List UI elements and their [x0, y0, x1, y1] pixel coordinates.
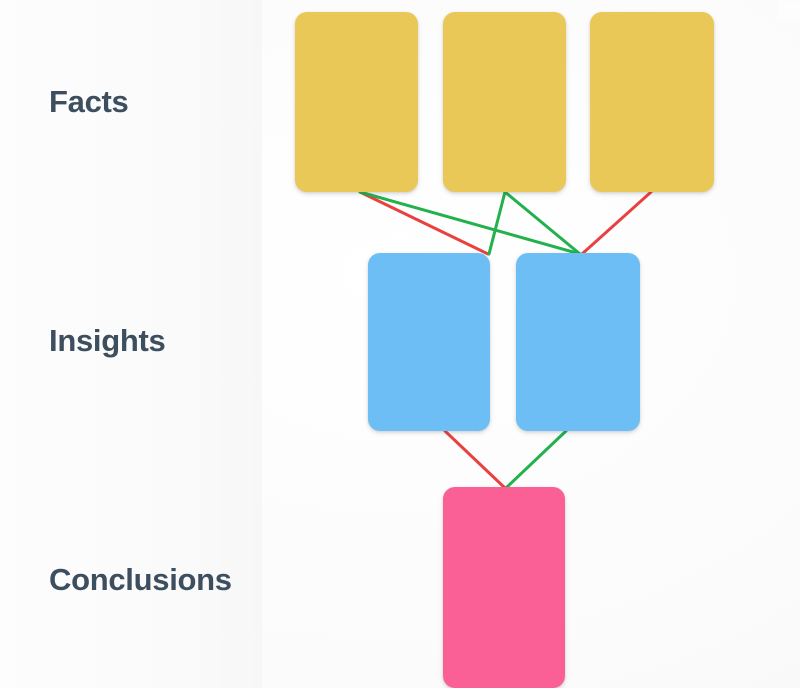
diagram-canvas: Facts Insights Conclusions Top hi	[0, 0, 800, 688]
connector-contradicting-insight-1-to-conclusion-1[interactable]	[445, 431, 505, 488]
card-fact-1[interactable]	[295, 12, 418, 192]
card-fact-3[interactable]	[590, 12, 714, 192]
card-conclusion-1[interactable]	[443, 487, 565, 688]
connector-contradicting-fact-3-to-insight-2[interactable]	[582, 192, 651, 254]
connector-supporting-fact-2-to-insight-1[interactable]	[489, 192, 505, 254]
card-insight-1[interactable]	[368, 253, 490, 431]
card-insight-2[interactable]	[516, 253, 640, 431]
top-highlights-box	[777, 0, 800, 20]
connector-supporting-insight-2-to-conclusion-1[interactable]	[506, 431, 566, 488]
top-highlights-label: Top hi	[769, 28, 800, 40]
card-fact-2[interactable]	[443, 12, 566, 192]
